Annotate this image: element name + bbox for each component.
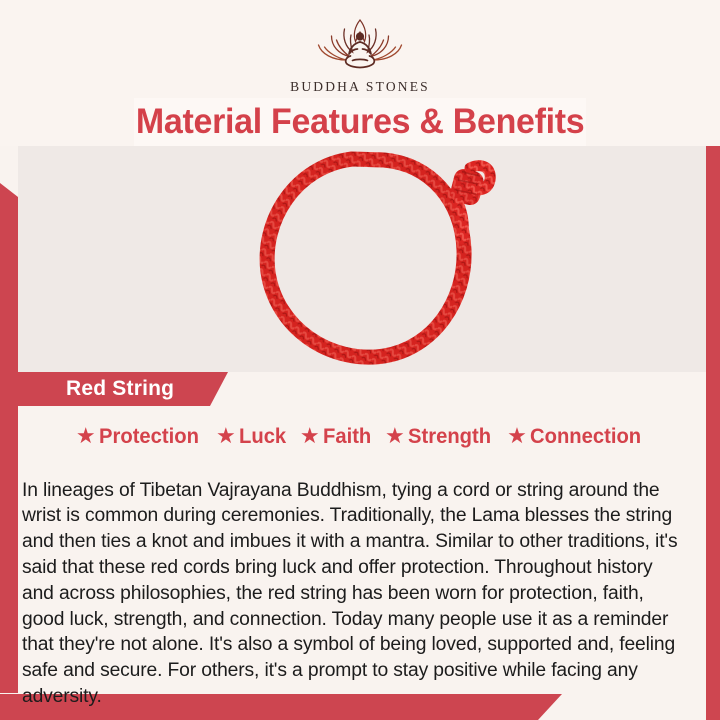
benefit-item-strength: ★ Strength: [381, 424, 500, 449]
page-title-text: Material Features & Benefits: [136, 102, 584, 142]
star-icon: ★: [507, 425, 527, 447]
benefit-label: Luck: [239, 424, 286, 449]
benefit-label: Faith: [323, 424, 371, 449]
benefit-item-protection: ★ Protection: [72, 424, 209, 449]
benefit-item-faith: ★ Faith: [296, 424, 378, 449]
description-paragraph: In lineages of Tibetan Vajrayana Buddhis…: [22, 478, 684, 710]
product-label-text: Red String: [66, 377, 174, 401]
page-title: Material Features & Benefits: [134, 98, 586, 146]
star-icon: ★: [216, 425, 236, 447]
red-string-bracelet-image: [234, 148, 506, 370]
brand-logo: BUDDHA STONES: [0, 14, 720, 95]
product-label-banner: Red String: [18, 372, 228, 406]
benefit-label: Strength: [408, 424, 491, 449]
benefits-row: ★ Protection ★ Luck ★ Faith ★ Strength ★…: [18, 418, 706, 454]
benefit-item-connection: ★ Connection: [503, 424, 652, 449]
product-image-panel: [18, 146, 706, 372]
benefit-label: Connection: [530, 424, 641, 449]
infographic-poster: BUDDHA STONES Material Features & Benefi…: [0, 0, 720, 720]
benefit-item-luck: ★ Luck: [212, 424, 293, 449]
benefit-label: Protection: [99, 424, 199, 449]
left-accent-bar: [0, 183, 18, 693]
brand-name: BUDDHA STONES: [290, 79, 430, 95]
header: BUDDHA STONES Material Features & Benefi…: [0, 0, 720, 146]
star-icon: ★: [385, 425, 405, 447]
star-icon: ★: [76, 425, 96, 447]
lotus-meditation-icon: [302, 14, 418, 76]
star-icon: ★: [300, 425, 320, 447]
